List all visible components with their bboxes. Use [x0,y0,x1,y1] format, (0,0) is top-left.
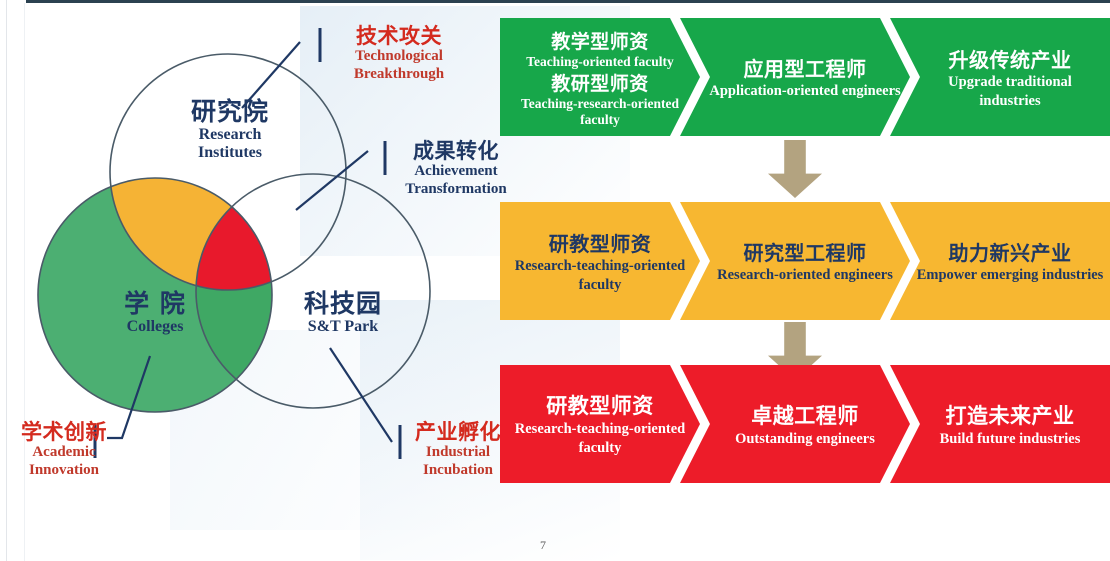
chevron-green-1-en2: Teaching-research-oriented faculty [506,96,694,126]
chevron-orange-2[interactable]: 研究型工程师 Research-oriented engineers [680,202,910,320]
callout-industrial-incubation: 产业孵化 Industrial Incubation [406,420,510,479]
venn-diagram: 研究院 Research Institutes 学 院 Colleges 科技园… [0,0,500,520]
chevron-red-3[interactable]: 打造未来产业 Build future industries [890,365,1110,483]
flow-row-orange: 研教型师资 Research-teaching-oriented faculty… [500,202,1110,320]
chevron-green-1-cn: 教学型师资 [506,27,694,54]
chevron-green-2[interactable]: 应用型工程师 Application-oriented engineers [680,18,910,136]
chevron-red-1[interactable]: 研教型师资 Research-teaching-oriented faculty [500,365,700,483]
chevron-green-3-cn: 升级传统产业 [916,44,1104,73]
process-flow: 教学型师资 Teaching-oriented faculty 教研型师资 Te… [500,0,1110,561]
callout-academic-innovation-en2: Innovation [5,462,123,479]
chevron-orange-1[interactable]: 研教型师资 Research-teaching-oriented faculty [500,202,700,320]
chevron-red-2[interactable]: 卓越工程师 Outstanding engineers [680,365,910,483]
chevron-red-3-en: Build future industries [940,430,1081,449]
venn-label-colleges: 学 院 Colleges [85,290,225,336]
callout-tech-breakthrough: 技术攻关 Technological Breakthrough [334,24,464,83]
venn-label-research: 研究院 Research Institutes [160,98,300,162]
chevron-orange-2-cn: 研究型工程师 [717,237,893,266]
callout-academic-innovation-en1: Academic [5,444,123,461]
chevron-red-3-cn: 打造未来产业 [940,400,1081,430]
callout-tech-breakthrough-en2: Breakthrough [334,66,464,83]
venn-label-colleges-cn: 学 院 [85,290,225,318]
callout-academic-innovation: 学术创新 Academic Innovation [5,420,123,479]
chevron-green-2-en: Application-oriented engineers [709,82,900,100]
arrow-down-green-to-orange [768,140,822,198]
callout-achievement-en1: Achievement [398,163,514,180]
chevron-green-3-en: Upgrade traditional industries [916,73,1104,109]
leader-line-achievement [296,151,368,210]
chevron-orange-3-cn: 助力新兴产业 [917,237,1104,266]
callout-tech-breakthrough-cn: 技术攻关 [334,24,464,48]
chevron-red-2-en: Outstanding engineers [735,430,875,449]
leader-line-industrial-incubation [330,348,392,442]
chevron-green-3[interactable]: 升级传统产业 Upgrade traditional industries [890,18,1110,136]
venn-label-research-en1: Research [160,126,300,144]
callout-industrial-incubation-en1: Industrial [406,444,510,461]
callout-academic-innovation-cn: 学术创新 [5,420,123,444]
chevron-green-1[interactable]: 教学型师资 Teaching-oriented faculty 教研型师资 Te… [500,18,700,136]
chevron-green-1-cn2: 教研型师资 [506,69,694,96]
chevron-orange-3[interactable]: 助力新兴产业 Empower emerging industries [890,202,1110,320]
chevron-orange-1-en: Research-teaching-oriented faculty [506,257,694,295]
chevron-orange-2-en: Research-oriented engineers [717,266,893,285]
callout-industrial-incubation-cn: 产业孵化 [406,420,510,444]
venn-label-stpark: 科技园 S&T Park [278,290,408,336]
venn-label-stpark-en1: S&T Park [278,318,408,336]
chevron-red-2-cn: 卓越工程师 [735,400,875,430]
venn-label-research-cn: 研究院 [160,98,300,126]
callout-tech-breakthrough-en1: Technological [334,48,464,65]
callout-achievement-transformation: 成果转化 Achievement Transformation [398,139,514,198]
chevron-orange-1-cn: 研教型师资 [506,228,694,257]
flow-row-red: 研教型师资 Research-teaching-oriented faculty… [500,365,1110,483]
chevron-green-1-en: Teaching-oriented faculty [506,54,694,69]
venn-label-research-en2: Institutes [160,144,300,162]
slide-canvas: 研究院 Research Institutes 学 院 Colleges 科技园… [0,0,1110,561]
chevron-green-2-cn: 应用型工程师 [709,53,900,82]
page-number: 7 [540,538,546,553]
flow-row-green: 教学型师资 Teaching-oriented faculty 教研型师资 Te… [500,18,1110,136]
venn-label-stpark-cn: 科技园 [278,290,408,318]
venn-label-colleges-en1: Colleges [85,318,225,336]
chevron-red-1-cn: 研教型师资 [506,390,694,420]
chevron-red-1-en: Research-teaching-oriented faculty [506,420,694,458]
chevron-orange-3-en: Empower emerging industries [917,266,1104,285]
callout-industrial-incubation-en2: Incubation [406,462,510,479]
callout-achievement-cn: 成果转化 [398,139,514,163]
callout-achievement-en2: Transformation [398,181,514,198]
